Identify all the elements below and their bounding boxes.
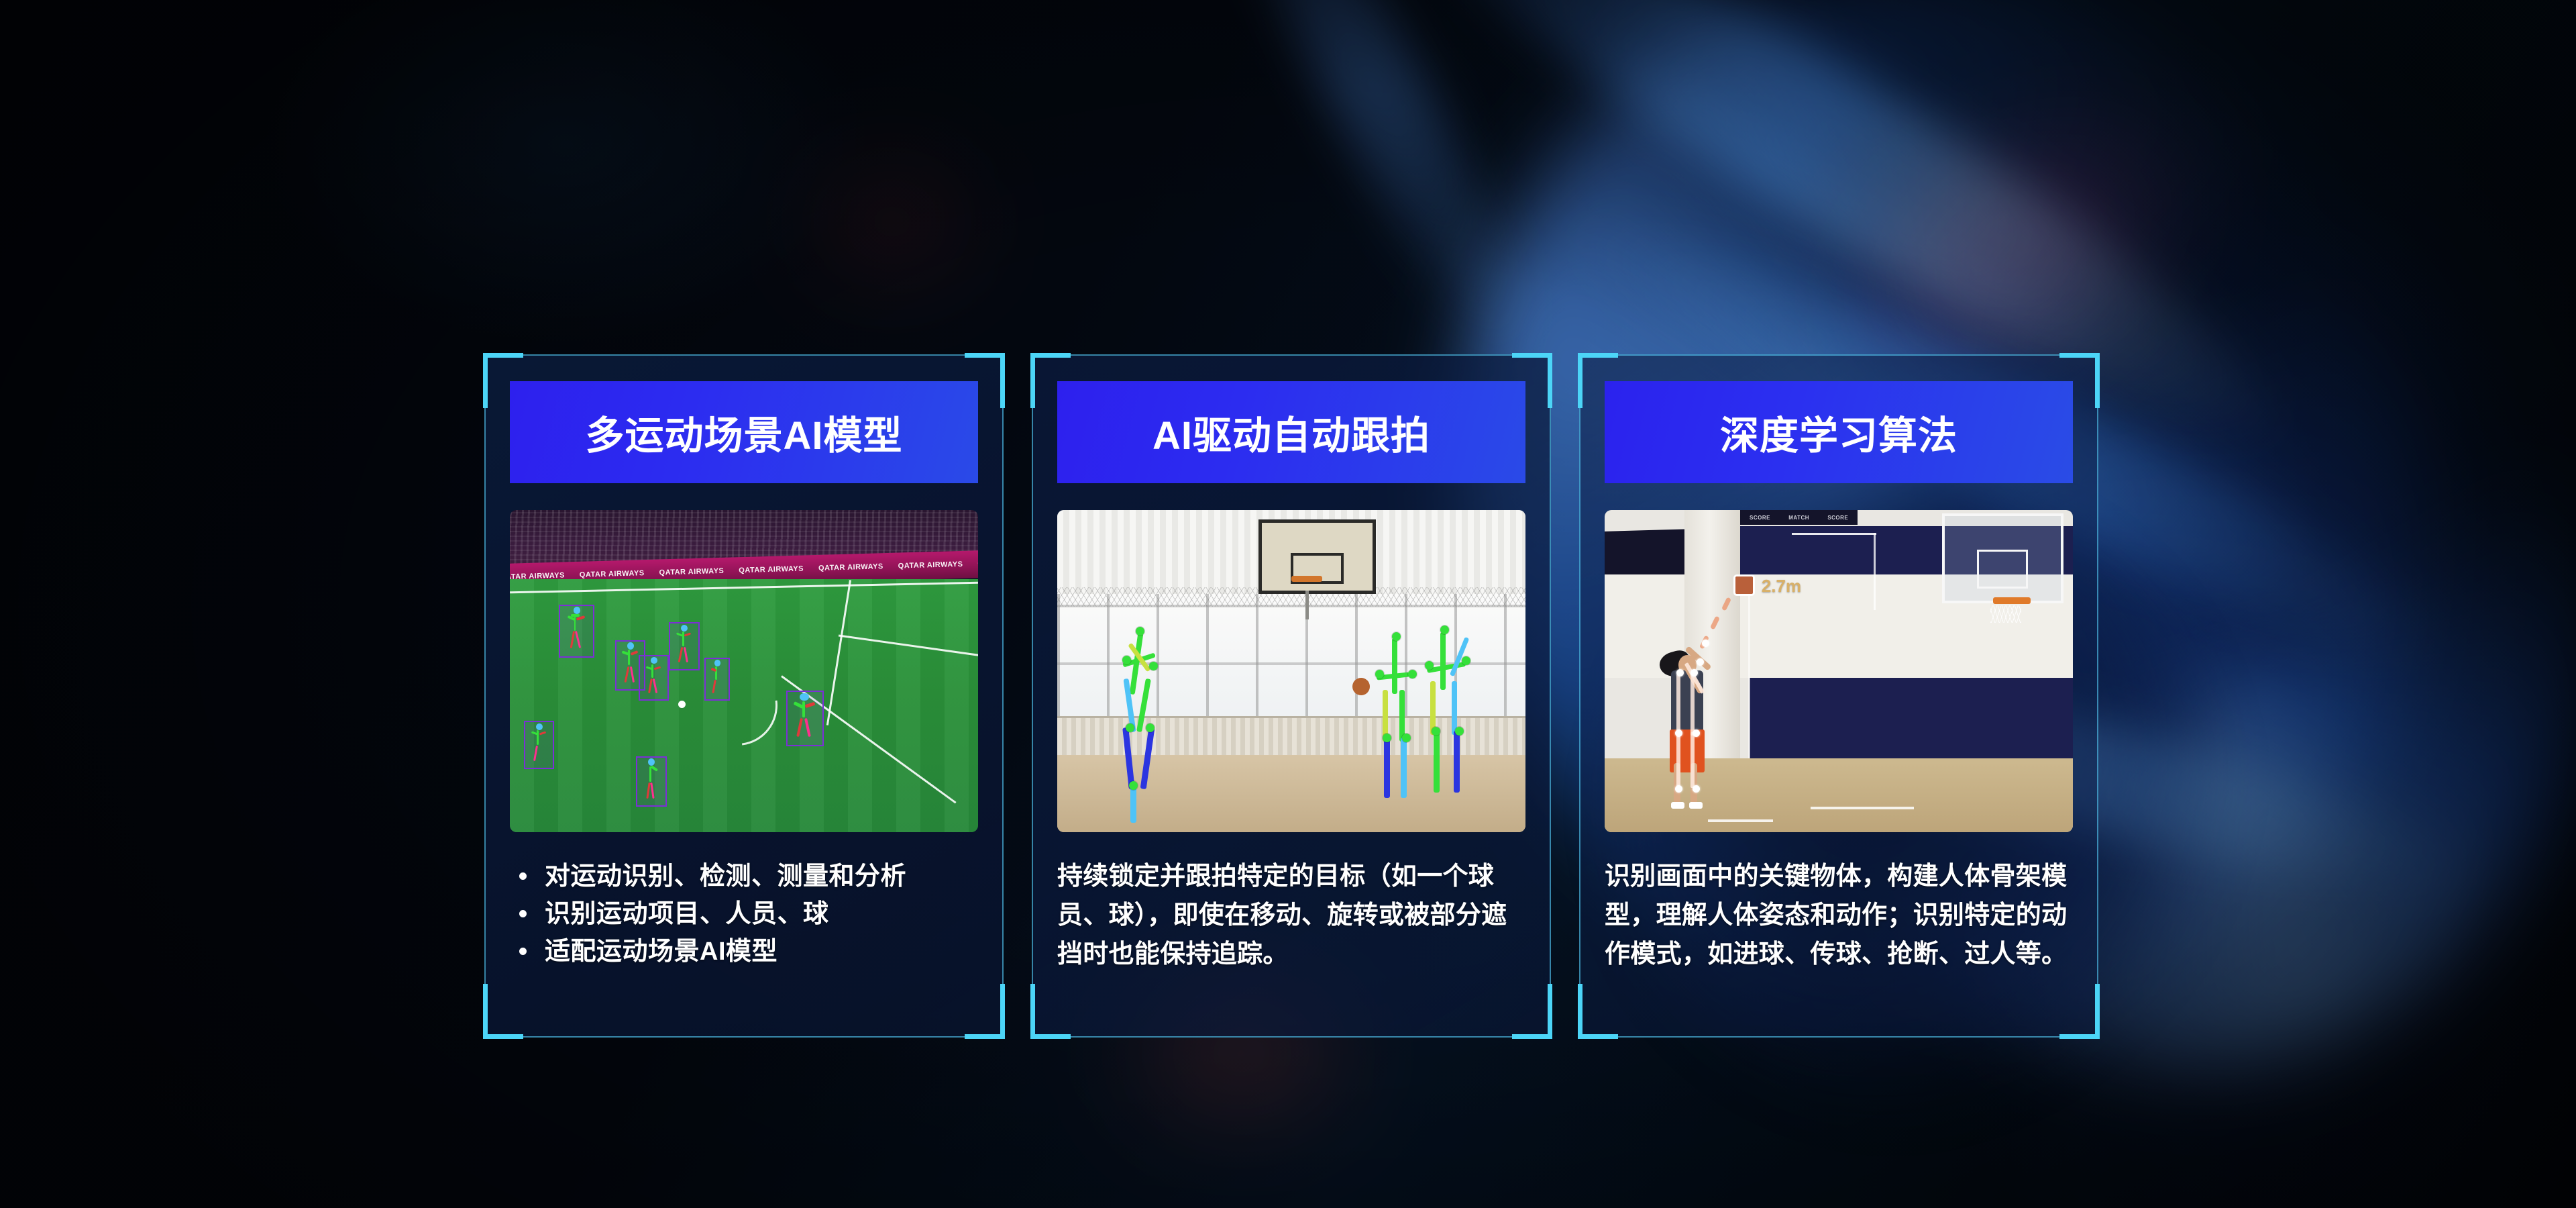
feature-bullet-list: 对运动识别、检测、测量和分析 识别运动项目、人员、球 适配运动场景AI模型 — [510, 858, 979, 971]
basketball-net — [1990, 605, 2021, 623]
basketball-rim — [1993, 597, 2031, 604]
backboard — [1942, 513, 2063, 603]
ball-tracking-box — [1733, 574, 1755, 596]
player-bbox — [639, 655, 669, 701]
card-title: 深度学习算法 — [1720, 404, 1957, 460]
pose-skeleton-shooter — [1652, 655, 1722, 809]
player-bbox — [704, 658, 730, 701]
pose-skeleton-player — [1109, 616, 1193, 822]
feature-card-row: 多运动场景AI模型 QATAR AIRWAYS QATAR AIRWAYS QA… — [0, 0, 2576, 1208]
measurement-guide-vertical — [1874, 533, 1876, 610]
card-header-banner: 多运动场景AI模型 — [510, 381, 978, 483]
feature-card-multi-sport-ai-model[interactable]: 多运动场景AI模型 QATAR AIRWAYS QATAR AIRWAYS QA… — [484, 354, 1004, 1038]
pitch-line-top — [510, 582, 978, 594]
ad-banner-text: QATAR AIRWAYS — [739, 564, 804, 574]
player-bbox — [636, 756, 666, 807]
card-title: 多运动场景AI模型 — [585, 404, 902, 460]
card-body: 识别画面中的关键物体，构建人体骨架模型，理解人体姿态和动作；识别特定的动作模式，… — [1605, 858, 2074, 974]
card-header-banner: AI驱动自动跟拍 — [1057, 381, 1525, 483]
measurement-guide-vertical-secondary — [1748, 581, 1750, 758]
backboard — [1258, 519, 1376, 593]
scoreboard-label: SCORE — [1750, 515, 1770, 521]
basketball — [1352, 678, 1370, 695]
card-body: 对运动识别、检测、测量和分析 识别运动项目、人员、球 适配运动场景AI模型 — [510, 858, 979, 971]
list-item: 适配运动场景AI模型 — [510, 933, 979, 970]
feature-card-deep-learning-algorithm[interactable]: 深度学习算法 SCORE MATCH SCORE — [1579, 354, 2098, 1038]
scoreboard-label: MATCH — [1788, 515, 1809, 521]
soccer-ball — [678, 701, 686, 708]
player-torso — [1671, 670, 1703, 732]
card-description: 持续锁定并跟拍特定的目标（如一个球员、球），即使在移动、旋转或被部分遮挡时也能保… — [1057, 858, 1527, 974]
card-body: 持续锁定并跟拍特定的目标（如一个球员、球），即使在移动、旋转或被部分遮挡时也能保… — [1057, 858, 1527, 974]
basketball-rim — [1291, 576, 1322, 582]
feature-card-ai-auto-tracking[interactable]: AI驱动自动跟拍 — [1032, 354, 1551, 1038]
list-item: 对运动识别、检测、测量和分析 — [510, 858, 979, 895]
ad-banner-text: QATAR AIRWAYS — [580, 569, 645, 579]
height-measurement-label: 2.7m — [1762, 576, 1801, 597]
court-wall-padding-navy — [1750, 678, 2073, 758]
scoreboard: SCORE MATCH SCORE — [1740, 510, 1858, 526]
ad-banner-text: QATAR AIRWAYS — [659, 567, 724, 577]
soccer-pitch-detection-image: QATAR AIRWAYS QATAR AIRWAYS QATAR AIRWAY… — [510, 510, 978, 832]
measurement-guide-horizontal — [1792, 533, 1876, 535]
pitch-line-box-top — [838, 635, 978, 658]
scoreboard-label: SCORE — [1827, 515, 1848, 521]
court-floor-line — [1811, 807, 1914, 809]
pose-skeleton-player — [1413, 619, 1497, 825]
pitch-grass — [510, 579, 978, 832]
hoop-support-post — [1305, 591, 1309, 619]
player-bbox — [559, 605, 594, 658]
card-header-banner: 深度学习算法 — [1605, 381, 2073, 483]
court-floor-line — [1708, 819, 1774, 822]
gym-basketball-pose-image — [1057, 510, 1525, 832]
player-bbox — [524, 721, 554, 769]
card-description: 识别画面中的关键物体，构建人体骨架模型，理解人体姿态和动作；识别特定的动作模式，… — [1605, 858, 2074, 974]
basketball-shot-measurement-image: SCORE MATCH SCORE — [1605, 510, 2073, 832]
ad-banner-text: QATAR AIRWAYS — [977, 558, 978, 568]
ad-banner-text: QATAR AIRWAYS — [818, 562, 883, 572]
player-bbox — [786, 691, 824, 746]
ad-banner-text: QATAR AIRWAYS — [898, 560, 963, 570]
player-bbox — [669, 622, 699, 670]
list-item: 识别运动项目、人员、球 — [510, 895, 979, 933]
pitch-line-box-left — [826, 580, 851, 725]
card-title: AI驱动自动跟拍 — [1152, 404, 1430, 460]
